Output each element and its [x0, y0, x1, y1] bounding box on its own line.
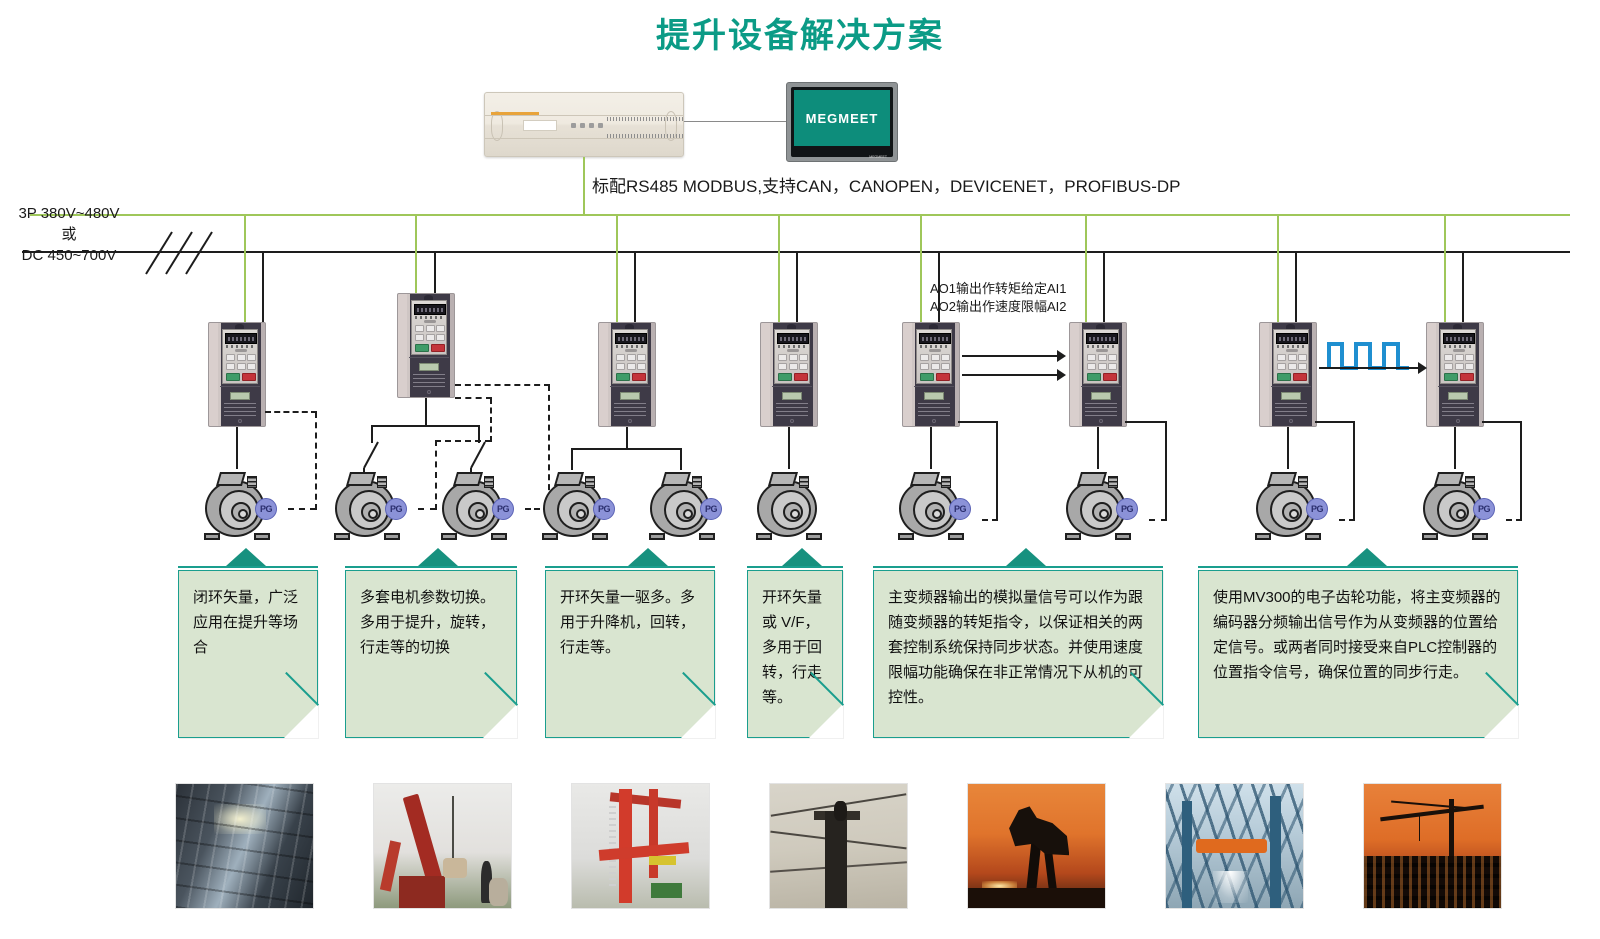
photo-port-crane-cargo	[373, 783, 512, 909]
plc-hmi-link-wire	[684, 121, 786, 122]
photo-image	[968, 784, 1105, 908]
vfd-key-grid	[778, 354, 808, 370]
pg-feedback-6a-t	[1315, 421, 1355, 423]
pg-feedback-6a-v	[1353, 421, 1355, 520]
vfd-led-display	[414, 304, 446, 315]
vfd-potentiometer	[1286, 349, 1298, 352]
pg-encoder-badge: PG	[700, 498, 722, 520]
motor-foot-right	[491, 533, 507, 540]
pg-feedback-2a-h	[418, 508, 436, 510]
vfd-nameplate	[924, 392, 944, 400]
vfd-cover-seam	[610, 386, 650, 387]
motor-5b: PG	[1062, 470, 1134, 540]
hmi-foot-label: MEGMEET	[869, 155, 887, 159]
callout-toprule-2	[345, 566, 517, 568]
comm-drop-2	[415, 216, 417, 296]
motor-foot-left	[441, 533, 457, 540]
motor-ring-3	[1449, 502, 1469, 522]
pg-encoder-badge: PG	[949, 498, 971, 520]
vfd-keypad-panel	[222, 329, 258, 384]
pg-feedback-2b-t	[455, 384, 550, 386]
photo-factory-overhead-crane	[1165, 783, 1304, 909]
photo-container-gantry-crane	[571, 783, 710, 909]
pg-feedback-2a-v	[435, 440, 437, 510]
callout-box-1: 闭环矢量，广泛应用在提升等场合	[178, 570, 318, 738]
motor-ring-3	[1092, 502, 1112, 522]
vfd-run-button	[1444, 373, 1458, 381]
motor-ring-3	[783, 502, 803, 522]
vfd-drive-5-master	[902, 322, 960, 427]
motor-shaft-center	[475, 509, 485, 519]
motor-ring-2	[913, 490, 953, 530]
vfd-key-grid	[616, 354, 646, 370]
plc-label-plate	[523, 120, 557, 131]
motor-cable-1	[236, 427, 238, 469]
photo-power-line-worker	[769, 783, 908, 909]
vfd-bolt	[1099, 419, 1103, 423]
vfd-stop-button	[936, 373, 950, 381]
motor-foot-right	[1305, 533, 1321, 540]
vfd-drive-4	[760, 322, 818, 427]
motor-cooling-fins	[585, 476, 595, 488]
pg-feedback-wire-1b	[315, 412, 317, 510]
vfd-stop-button	[242, 373, 256, 381]
vfd-indicator-row	[920, 345, 950, 348]
motor-ring-2	[1270, 490, 1310, 530]
communication-caption: 标配RS485 MODBUS,支持CAN，CANOPEN，DEVICENET，P…	[592, 172, 1180, 197]
vfd-run-stop-row	[1444, 373, 1474, 381]
motor-foot-left	[649, 533, 665, 540]
ao2-signal-arrow-head	[1057, 369, 1066, 381]
callout-pointer-5	[1006, 548, 1046, 566]
motor-6b: PG	[1419, 470, 1491, 540]
motor-6a: PG	[1252, 470, 1324, 540]
power-drop-3	[634, 252, 636, 326]
photo-oil-pumpjack-sunset	[967, 783, 1106, 909]
power-drop-6a	[1295, 252, 1297, 326]
callout-pointer-1	[226, 548, 266, 566]
callout-text-4: 开环矢量或 V/F，多用于回转，行走等。	[762, 585, 830, 710]
pg-encoder-badge: PG	[492, 498, 514, 520]
plc-seam-top	[485, 115, 683, 116]
plc-led-row	[571, 123, 603, 128]
vfd-potentiometer	[625, 349, 637, 352]
vfd-led-display	[615, 333, 647, 344]
motor-3b: PG	[646, 470, 718, 540]
vfd-key-grid	[415, 325, 445, 341]
vfd-run-button	[616, 373, 630, 381]
vfd-bolt	[628, 419, 632, 423]
vfd-nameplate	[1091, 392, 1111, 400]
power-drop-5b	[1103, 252, 1105, 326]
hmi-panel: MEGMEET MEGMEET	[786, 82, 898, 162]
callout-toprule-6	[1198, 566, 1518, 568]
vfd-led-display	[919, 333, 951, 344]
vfd-key-grid	[920, 354, 950, 370]
motor-cooling-fins	[484, 476, 494, 488]
motor-foot-right	[806, 533, 822, 540]
vfd-bolt	[427, 390, 431, 394]
motor-cooling-fins	[941, 476, 951, 488]
vfd-bolt	[932, 419, 936, 423]
plc-seam-bottom	[485, 138, 683, 139]
motor-ring-3	[468, 502, 488, 522]
motor-terminal-box	[453, 472, 483, 486]
motor-terminal-box	[1077, 472, 1107, 486]
vfd-keypad-panel	[1083, 329, 1119, 384]
vfd-indicator-row	[616, 345, 646, 348]
vfd-keypad-panel	[774, 329, 810, 384]
plc-terminal-block-bottom	[607, 134, 685, 138]
power-drop-4	[796, 252, 798, 326]
motor-shaft-center	[1289, 509, 1299, 519]
motor-ring-3	[569, 502, 589, 522]
motor-terminal-box	[554, 472, 584, 486]
motor-foot-right	[1472, 533, 1488, 540]
motor-terminal-box	[768, 472, 798, 486]
motor-foot-left	[1255, 533, 1271, 540]
motor-shaft-center	[368, 509, 378, 519]
motor-cooling-fins	[692, 476, 702, 488]
vfd-keypad-panel	[916, 329, 952, 384]
motor-foot-left	[756, 533, 772, 540]
pg-feedback-6b-t	[1482, 421, 1522, 423]
motor-terminal-box	[346, 472, 376, 486]
callout-toprule-3	[545, 566, 715, 568]
vfd-bolt	[1289, 419, 1293, 423]
motor-3a: PG	[539, 470, 611, 540]
motor-cooling-fins	[247, 476, 257, 488]
vfd-bolt	[238, 419, 242, 423]
motor-foot-left	[204, 533, 220, 540]
callout-box-5: 主变频器输出的模拟量信号可以作为跟随变频器的转矩指令，以保证相关的两套控制系统保…	[873, 570, 1163, 738]
motor-5a: PG	[895, 470, 967, 540]
pg-encoder-badge: PG	[1306, 498, 1328, 520]
vfd-led-display	[225, 333, 257, 344]
callout-pointer-4	[782, 548, 822, 566]
vfd-run-button	[778, 373, 792, 381]
motor-shaft-center	[683, 509, 693, 519]
motor-ring-2	[1080, 490, 1120, 530]
vfd-indicator-row	[415, 316, 445, 319]
vfd-drive-3	[598, 322, 656, 427]
ao1-signal-arrow-head	[1057, 350, 1066, 362]
pg-encoder-badge: PG	[593, 498, 615, 520]
motor-housing	[757, 480, 817, 537]
motor-terminal-box	[661, 472, 691, 486]
power-drop-6b	[1462, 252, 1464, 326]
supply-voltage-line-1: 3P 380V~480V	[4, 203, 134, 224]
ao-note-line-1: AO1输出作转矩给定AI1	[930, 280, 1067, 298]
vfd-warning-text	[1442, 403, 1474, 417]
diagram-canvas: 提升设备解决方案 MEGMEET MEGMEET 标配RS485 MODBUS,…	[0, 0, 1600, 939]
callout-box-3: 开环矢量一驱多。多用于升降机，回转，行走等。	[545, 570, 715, 738]
vfd-nameplate	[230, 392, 250, 400]
comm-drop-1	[244, 216, 246, 326]
motor-2a: PG	[331, 470, 403, 540]
pg-feedback-5a-v	[996, 421, 998, 520]
communication-bus-line	[30, 214, 1570, 216]
comm-drop-6b	[1444, 216, 1446, 326]
motor-lead-3a	[571, 448, 573, 470]
vfd-stop-button	[431, 344, 445, 352]
motor-terminal-box	[1434, 472, 1464, 486]
vfd-key-grid	[1444, 354, 1474, 370]
ao-note-line-2: AO2输出作速度限幅AI2	[930, 298, 1067, 316]
vfd-cover-seam	[409, 357, 449, 358]
comm-drop-4	[778, 216, 780, 326]
pg-feedback-5b-v	[1165, 421, 1167, 520]
photo-image	[176, 784, 313, 908]
motor-2b: PG	[438, 470, 510, 540]
callout-pointer-3	[628, 548, 668, 566]
motor-ring-2	[456, 490, 496, 530]
pg-encoder-badge: PG	[385, 498, 407, 520]
motor-shaft-center	[790, 509, 800, 519]
vfd-led-display	[777, 333, 809, 344]
motor-ring-2	[349, 490, 389, 530]
vfd-potentiometer	[1096, 349, 1108, 352]
photo-image	[572, 784, 709, 908]
plc-bus-drop	[583, 157, 585, 215]
pg-feedback-6b-v	[1520, 421, 1522, 520]
pg-feedback-2a-t	[435, 440, 491, 442]
motor-bus-drop-2	[425, 398, 427, 426]
motor-shaft-center	[1456, 509, 1466, 519]
motor-cooling-fins	[799, 476, 809, 488]
motor-foot-right	[948, 533, 964, 540]
vfd-potentiometer	[1453, 349, 1465, 352]
motor-ring-3	[925, 502, 945, 522]
vfd-led-display	[1443, 333, 1475, 344]
photo-glass-building-elevator	[175, 783, 314, 909]
motor-shaft-center	[576, 509, 586, 519]
pg-encoder-badge: PG	[1473, 498, 1495, 520]
plc-terminal-block-top	[607, 117, 685, 121]
motor-ring-2	[219, 490, 259, 530]
motor-cable-5b	[1097, 427, 1099, 469]
motor-shaft-center	[238, 509, 248, 519]
motor-cable-6b	[1454, 427, 1456, 469]
vfd-run-stop-row	[616, 373, 646, 381]
power-drop-1	[262, 252, 264, 326]
plc-controller	[484, 92, 684, 157]
page-title: 提升设备解决方案	[0, 8, 1600, 57]
motor-cable-4	[788, 427, 790, 469]
vfd-keypad-panel	[1440, 329, 1476, 384]
vfd-nameplate	[1448, 392, 1468, 400]
motor-bus-h-3	[572, 448, 682, 450]
callout-box-2: 多套电机参数切换。多用于提升，旋转，行走等的切换	[345, 570, 517, 738]
vfd-keypad-panel	[1273, 329, 1309, 384]
vfd-cover-seam	[220, 386, 260, 387]
motor-foot-left	[542, 533, 558, 540]
vfd-nameplate	[419, 363, 439, 371]
callout-text-6: 使用MV300的电子齿轮功能，将主变频器的编码器分频输出信号作为从变频器的位置给…	[1213, 585, 1505, 685]
motor-foot-left	[898, 533, 914, 540]
motor-foot-right	[384, 533, 400, 540]
vfd-key-grid	[1277, 354, 1307, 370]
motor-cooling-fins	[1465, 476, 1475, 488]
ao2-signal-arrow-line	[962, 374, 1058, 376]
callout-pointer-2	[418, 548, 458, 566]
vfd-keypad-panel	[612, 329, 648, 384]
power-drop-5a	[938, 252, 940, 326]
motor-foot-left	[1422, 533, 1438, 540]
comm-drop-3	[616, 216, 618, 326]
callout-toprule-4	[747, 566, 843, 568]
pulse-link-arrow-head	[1418, 362, 1427, 374]
hmi-bezel: MEGMEET	[791, 87, 893, 157]
vfd-led-display	[1276, 333, 1308, 344]
photo-tower-crane-sunset	[1363, 783, 1502, 909]
vfd-stop-button	[1460, 373, 1474, 381]
pg-feedback-2a-in	[455, 397, 492, 399]
vfd-run-stop-row	[920, 373, 950, 381]
motor-cable-6a	[1287, 427, 1289, 469]
motor-lead-3b	[680, 448, 682, 470]
motor-ring-3	[676, 502, 696, 522]
motor-bus-drop-3	[626, 427, 628, 449]
vfd-cover-seam	[1081, 386, 1121, 387]
motor-ring-3	[361, 502, 381, 522]
comm-drop-5a	[920, 216, 922, 326]
motor-ring-2	[771, 490, 811, 530]
photo-image	[770, 784, 907, 908]
motor-foot-right	[254, 533, 270, 540]
motor-ring-3	[1282, 502, 1302, 522]
motor-terminal-box	[1267, 472, 1297, 486]
vfd-keypad-panel	[411, 300, 447, 355]
photo-image	[374, 784, 511, 908]
vfd-warning-text	[224, 403, 256, 417]
application-photo-strip	[0, 783, 1600, 909]
vfd-stop-button	[1103, 373, 1117, 381]
motor-4	[753, 470, 825, 540]
comm-drop-6a	[1277, 216, 1279, 326]
pg-feedback-wire-1c	[265, 411, 317, 413]
motor-terminal-box	[910, 472, 940, 486]
vfd-run-button	[1277, 373, 1291, 381]
callout-text-5: 主变频器输出的模拟量信号可以作为跟随变频器的转矩指令，以保证相关的两套控制系统保…	[888, 585, 1150, 710]
motor-shaft-center	[932, 509, 942, 519]
pulse-link-line	[1319, 367, 1419, 369]
vfd-warning-text	[413, 374, 445, 388]
vfd-warning-text	[1085, 403, 1117, 417]
vfd-run-stop-row	[1277, 373, 1307, 381]
comm-drop-5b	[1085, 216, 1087, 326]
vfd-drive-6-slave	[1426, 322, 1484, 427]
ao1-signal-arrow-line	[962, 355, 1058, 357]
vfd-run-button	[920, 373, 934, 381]
photo-image	[1166, 784, 1303, 908]
three-phase-marks-icon	[138, 228, 238, 278]
hmi-screen: MEGMEET	[794, 90, 890, 146]
plc-status-strip	[491, 112, 539, 115]
vfd-led-display	[1086, 333, 1118, 344]
vfd-bolt	[1456, 419, 1460, 423]
vfd-cover-seam	[772, 386, 812, 387]
pg-feedback-wire-1a	[288, 508, 316, 510]
motor-cooling-fins	[1108, 476, 1118, 488]
pg-encoder-badge: PG	[1116, 498, 1138, 520]
motor-bus-h-2	[372, 425, 480, 427]
vfd-run-stop-row	[415, 344, 445, 352]
callout-text-1: 闭环矢量，广泛应用在提升等场合	[193, 585, 305, 660]
motor-cooling-fins	[377, 476, 387, 488]
vfd-potentiometer	[424, 320, 436, 323]
pg-feedback-5b-t	[1125, 421, 1167, 423]
motor-foot-left	[334, 533, 350, 540]
callout-toprule-1	[178, 566, 318, 568]
vfd-drive-5-slave	[1069, 322, 1127, 427]
pg-feedback-5a-t	[958, 421, 998, 423]
power-drop-2	[434, 252, 436, 296]
vfd-bolt	[790, 419, 794, 423]
vfd-stop-button	[1293, 373, 1307, 381]
pg-feedback-2a-up	[490, 398, 492, 442]
motor-shaft-center	[1099, 509, 1109, 519]
vfd-indicator-row	[1444, 345, 1474, 348]
motor-ring-3	[231, 502, 251, 522]
motor-1: PG	[201, 470, 273, 540]
motor-foot-right	[1115, 533, 1131, 540]
callout-toprule-5	[873, 566, 1163, 568]
supply-voltage-line-2: 或	[4, 224, 134, 245]
vfd-run-stop-row	[1087, 373, 1117, 381]
vfd-nameplate	[620, 392, 640, 400]
vfd-indicator-row	[1277, 345, 1307, 348]
vfd-potentiometer	[787, 349, 799, 352]
vfd-stop-button	[794, 373, 808, 381]
callout-box-6: 使用MV300的电子齿轮功能，将主变频器的编码器分频输出信号作为从变频器的位置给…	[1198, 570, 1518, 738]
vfd-indicator-row	[1087, 345, 1117, 348]
vfd-run-stop-row	[226, 373, 256, 381]
vfd-indicator-row	[778, 345, 808, 348]
vfd-drive-6-master	[1259, 322, 1317, 427]
motor-foot-right	[699, 533, 715, 540]
motor-ring-2	[1437, 490, 1477, 530]
callout-box-4: 开环矢量或 V/F，多用于回转，行走等。	[747, 570, 843, 738]
supply-voltage-line-3: DC 450~700V	[4, 245, 134, 266]
vfd-cover-seam	[1438, 386, 1478, 387]
vfd-warning-text	[776, 403, 808, 417]
motor-ring-2	[664, 490, 704, 530]
ao-signal-note: AO1输出作转矩给定AI1 AO2输出作速度限幅AI2	[930, 280, 1067, 316]
motor-foot-left	[1065, 533, 1081, 540]
callout-text-2: 多套电机参数切换。多用于提升，旋转，行走等的切换	[360, 585, 504, 660]
callout-text-3: 开环矢量一驱多。多用于升降机，回转，行走等。	[560, 585, 702, 660]
pg-encoder-badge: PG	[255, 498, 277, 520]
hmi-brand-text: MEGMEET	[806, 111, 879, 126]
vfd-indicator-row	[226, 345, 256, 348]
callout-pointer-6	[1347, 548, 1387, 566]
vfd-potentiometer	[235, 349, 247, 352]
vfd-potentiometer	[929, 349, 941, 352]
supply-voltage-label: 3P 380V~480V 或 DC 450~700V	[4, 203, 134, 266]
vfd-run-button	[226, 373, 240, 381]
vfd-nameplate	[1281, 392, 1301, 400]
motor-ring-2	[557, 490, 597, 530]
photo-image	[1364, 784, 1501, 908]
vfd-drive-1	[208, 322, 266, 427]
vfd-key-grid	[1087, 354, 1117, 370]
motor-cooling-fins	[1298, 476, 1308, 488]
vfd-run-button	[1087, 373, 1101, 381]
vfd-stop-button	[632, 373, 646, 381]
vfd-drive-2	[397, 293, 455, 398]
motor-cable-5a	[930, 427, 932, 469]
